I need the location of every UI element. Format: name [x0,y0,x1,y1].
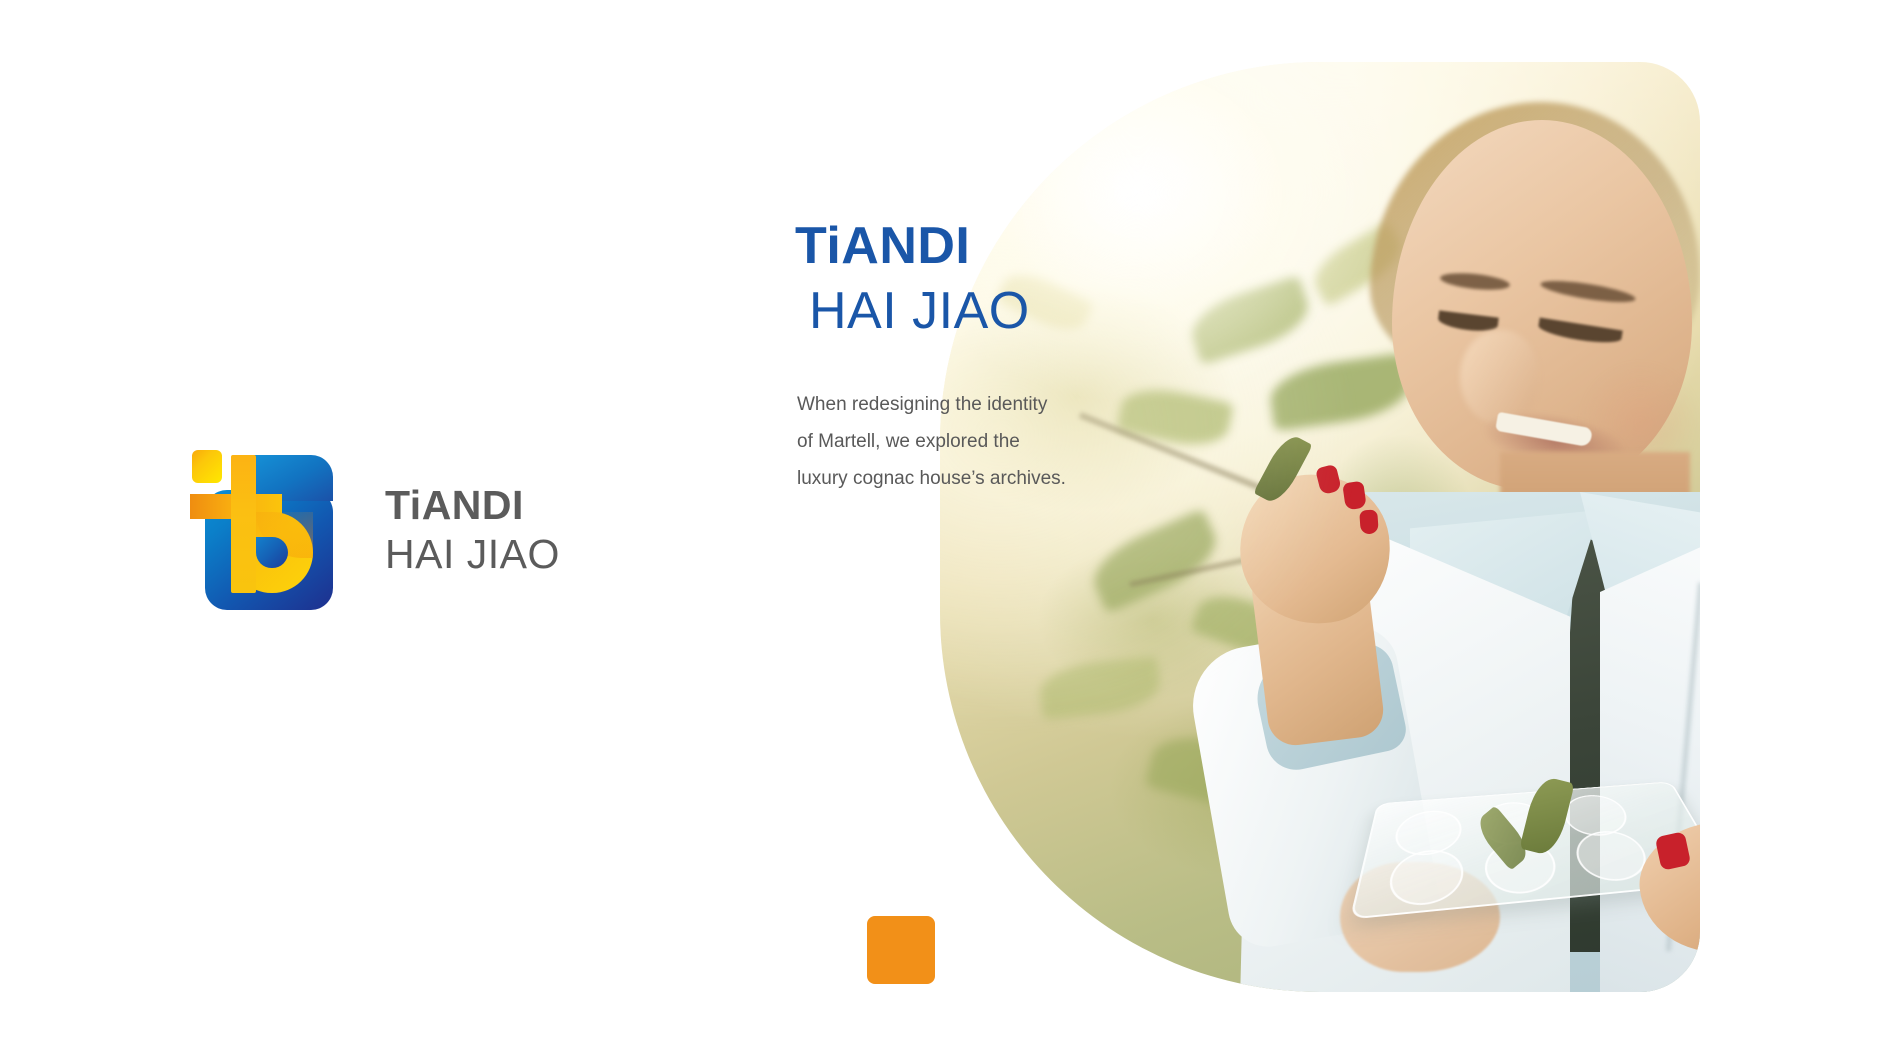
nose [1460,330,1538,424]
logo-bowl-counter-icon [256,537,288,568]
body-line-3: luxury cognac house’s archives. [797,460,1097,497]
fingernail [1342,481,1367,511]
body-line-1: When redesigning the identity [797,386,1097,423]
tiandi-logo-icon [190,450,335,610]
logo-wordmark: TiANDI HAI JIAO [385,485,560,575]
tray-well [1385,847,1463,908]
logo-yellow-stem-icon [231,455,256,593]
headline-line-2: HAI JIAO [809,285,1030,338]
logo-wordmark-line-1: TiANDI [385,485,560,526]
fingernail [1359,509,1379,534]
logo-wordmark-line-2: HAI JIAO [385,534,560,575]
brand-logo-lockup: TiANDI HAI JIAO [190,450,560,610]
slide-canvas: TiANDI HAI JIAO When redesigning the ide… [0,0,1890,1063]
logo-yellow-chip-icon [192,450,222,483]
page-title: TiANDI HAI JIAO [795,220,1030,338]
orange-accent-square [867,916,935,984]
hero-photo-background [940,62,1700,992]
headline-line-1: TiANDI [795,220,1030,273]
hero-photo [940,62,1700,992]
body-line-2: of Martell, we explored the [797,423,1097,460]
body-paragraph: When redesigning the identity of Martell… [797,386,1097,497]
figure-woman [940,62,1700,992]
